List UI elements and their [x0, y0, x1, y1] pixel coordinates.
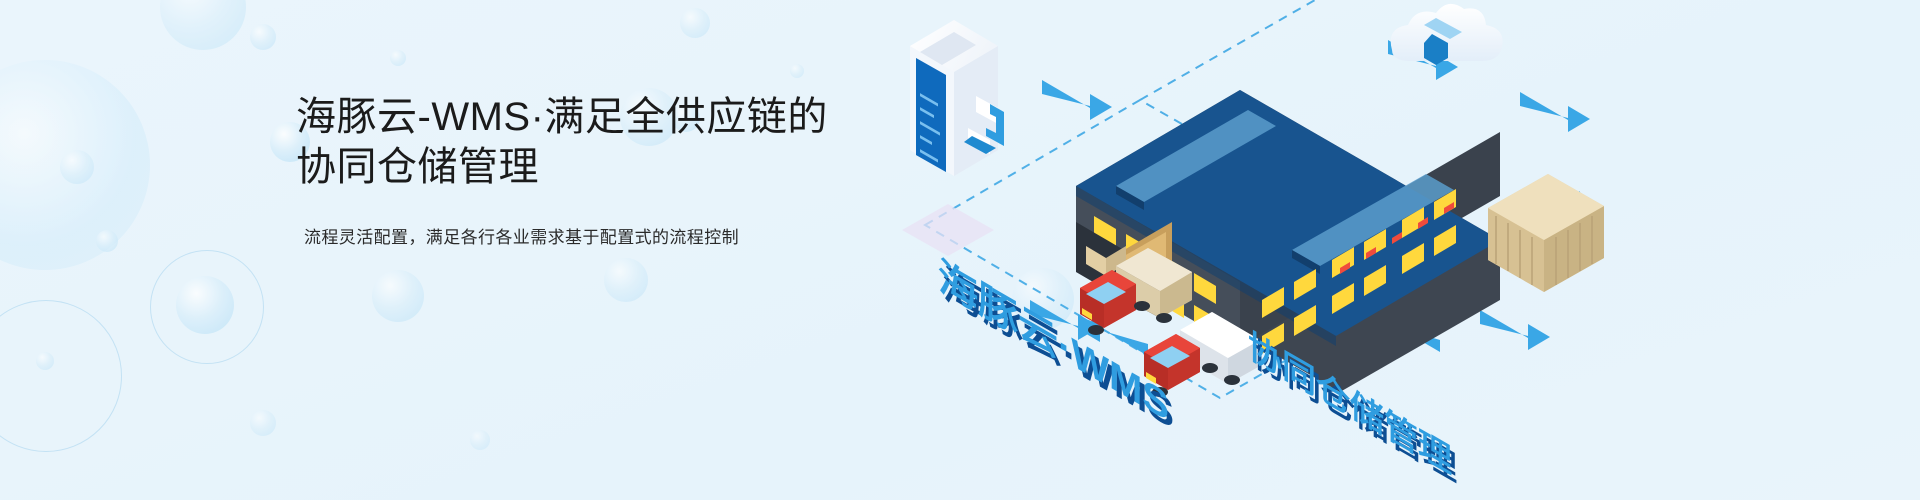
- bubble-decoration: [604, 258, 648, 302]
- cloud-upload-icon: [1391, 4, 1503, 65]
- bubble-decoration: [160, 0, 246, 50]
- bubble-decoration: [790, 64, 804, 78]
- bubble-decoration: [680, 8, 710, 38]
- bubble-decoration: [96, 230, 118, 252]
- bubble-decoration: [470, 430, 490, 450]
- bubble-decoration: [0, 300, 122, 452]
- page-title: 海豚云-WMS·满足全供应链的 协同仓储管理: [296, 92, 936, 192]
- bubble-decoration: [36, 352, 54, 370]
- hero-illustration: 海豚云·WMS 海豚云·WMS 协同仓储管理 协同仓储管理: [880, 0, 1640, 500]
- hero-banner: 海豚云-WMS·满足全供应链的 协同仓储管理 流程灵活配置，满足各行各业需求基于…: [0, 0, 1920, 500]
- bubble-decoration: [250, 410, 276, 436]
- server-rack-icon: [902, 20, 1004, 256]
- hero-copy: 海豚云-WMS·满足全供应链的 协同仓储管理 流程灵活配置，满足各行各业需求基于…: [296, 92, 936, 251]
- page-subtitle: 流程灵活配置，满足各行各业需求基于配置式的流程控制: [304, 225, 936, 251]
- bubble-decoration: [60, 150, 94, 184]
- bubble-decoration: [372, 270, 424, 322]
- bubble-decoration: [0, 60, 150, 270]
- bubble-decoration: [176, 276, 234, 334]
- bubble-decoration: [390, 50, 406, 66]
- bubble-decoration: [150, 250, 264, 364]
- bubble-decoration: [250, 24, 276, 50]
- shipping-container: [1488, 174, 1604, 292]
